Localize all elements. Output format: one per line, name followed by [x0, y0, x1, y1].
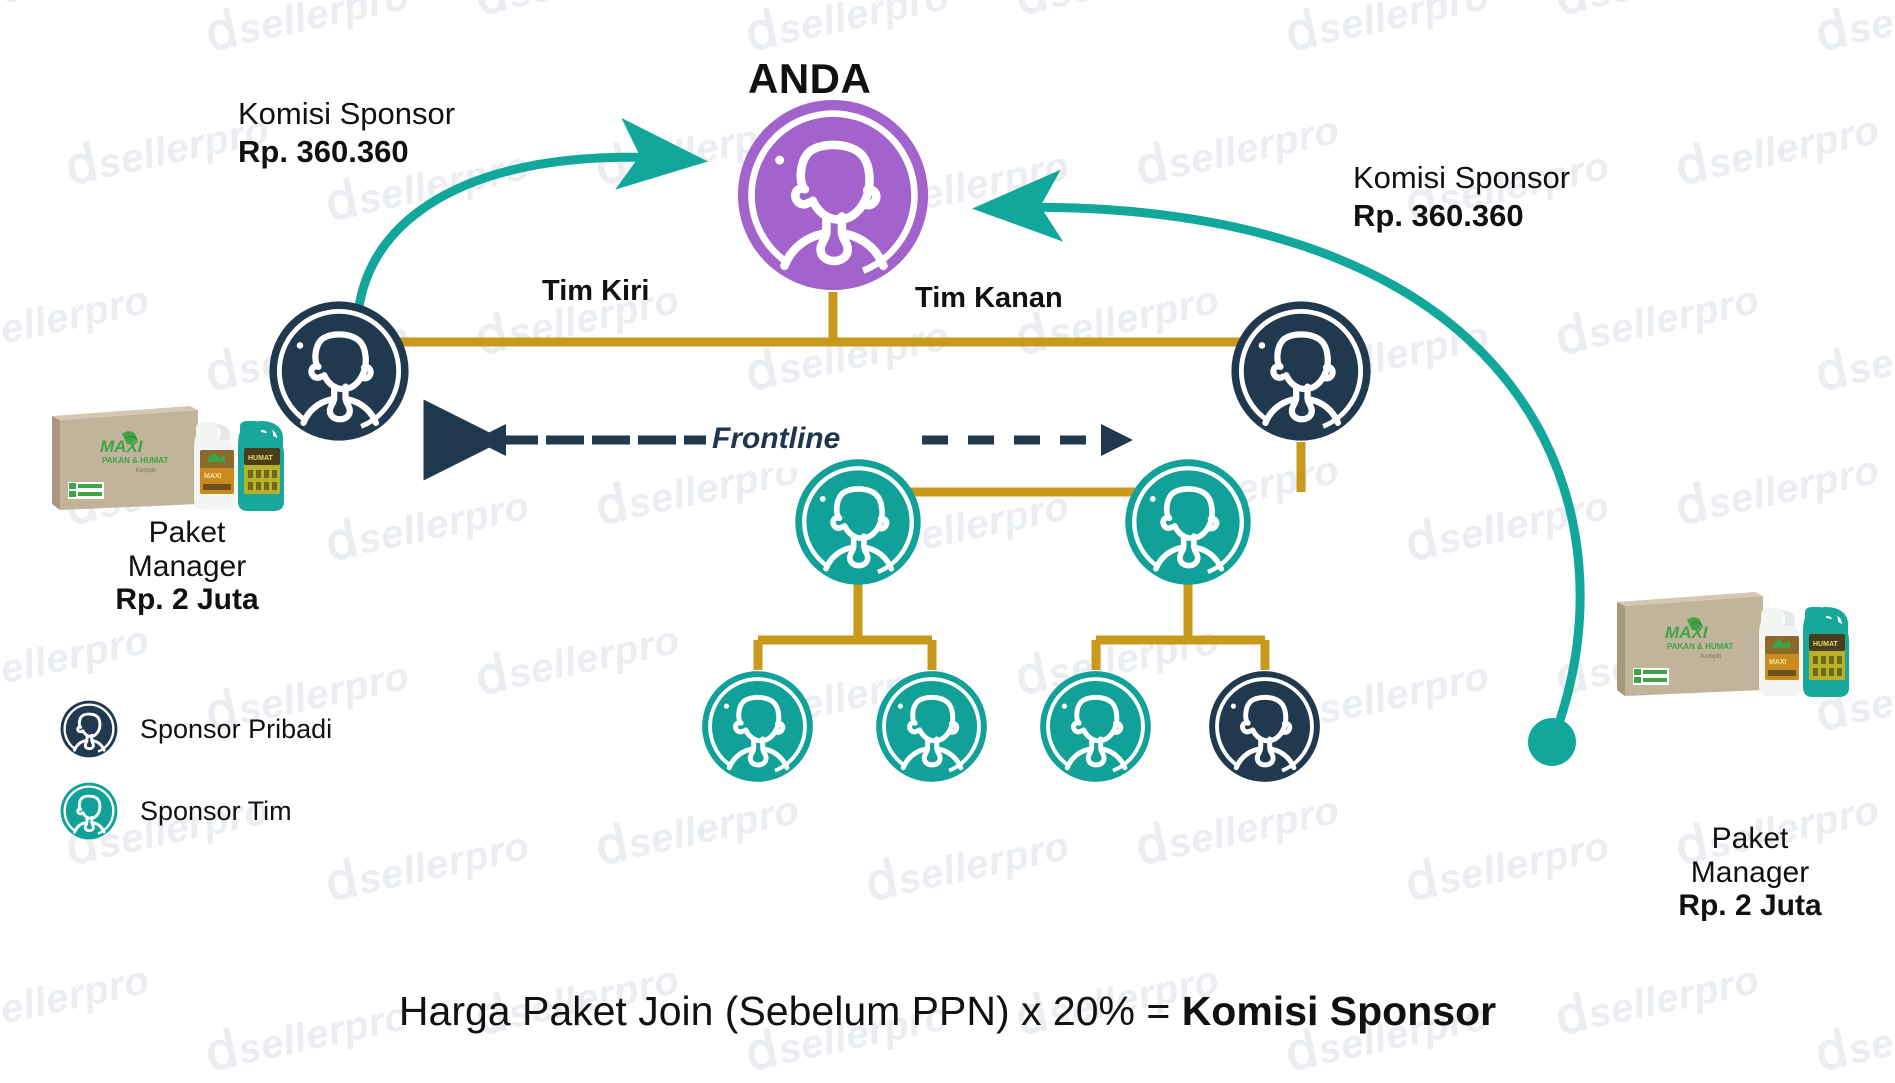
svg-text:HUMAT: HUMAT: [1813, 641, 1838, 648]
package-right-price: Rp. 2 Juta: [1678, 889, 1821, 922]
svg-text:Komplit: Komplit: [1701, 654, 1721, 660]
page-title: ANDA: [748, 55, 871, 103]
commission-right-title: Komisi Sponsor: [1353, 160, 1570, 196]
package-right-line2: Manager: [1625, 856, 1875, 890]
legend-item-sponsor-pribadi: Sponsor Pribadi: [60, 700, 332, 758]
diagram-canvas: ⅾsellerproⅾsellerproⅾsellerproⅾsellerpro…: [0, 0, 1895, 1080]
package-right: Paket Manager Rp. 2 Juta: [1625, 822, 1875, 923]
package-left-line1: Paket: [62, 516, 312, 550]
person-circle-icon: [1124, 458, 1252, 586]
package-left-price: Rp. 2 Juta: [115, 583, 258, 616]
person-circle-icon: [1230, 300, 1372, 442]
commission-left-amount: Rp. 360.360: [238, 134, 455, 170]
node-anda-root[interactable]: [736, 98, 930, 292]
commission-right-amount: Rp. 360.360: [1353, 198, 1570, 234]
svg-text:PAKAN & HUMAT: PAKAN & HUMAT: [1667, 642, 1733, 651]
svg-text:MAXI: MAXI: [204, 473, 222, 480]
legend-label-sponsor-tim: Sponsor Tim: [140, 796, 292, 827]
maxi-package-icon: MAXI PAKAN & HUMAT Komplit MAXI HUMAT: [48, 392, 298, 517]
node-team-r3a[interactable]: [701, 670, 814, 783]
caption-bold: Komisi Sponsor: [1182, 988, 1496, 1034]
commission-right: Komisi Sponsor Rp. 360.360: [1353, 160, 1570, 234]
person-circle-icon: [1039, 670, 1152, 783]
person-circle-icon: [875, 670, 988, 783]
label-frontline: Frontline: [712, 422, 840, 456]
person-circle-icon: [1208, 670, 1321, 783]
legend-item-sponsor-tim: Sponsor Tim: [60, 782, 332, 840]
legend: Sponsor Pribadi Sponsor Tim: [60, 700, 332, 840]
node-sponsor-r3d[interactable]: [1208, 670, 1321, 783]
package-right-line1: Paket: [1625, 822, 1875, 856]
package-left-line2: Manager: [62, 550, 312, 584]
product-image-right: MAXI PAKAN & HUMAT Komplit MAXI HUMAT: [1613, 578, 1863, 708]
svg-text:MAXI: MAXI: [1665, 623, 1709, 642]
label-tim-kiri: Tim Kiri: [542, 275, 649, 308]
node-team-r3b[interactable]: [875, 670, 988, 783]
node-team-r3c[interactable]: [1039, 670, 1152, 783]
person-circle-icon: [736, 98, 930, 292]
node-team-r2a[interactable]: [794, 458, 922, 586]
node-team-r2b[interactable]: [1124, 458, 1252, 586]
svg-text:MAXI: MAXI: [100, 437, 144, 456]
legend-label-sponsor-pribadi: Sponsor Pribadi: [140, 714, 332, 745]
person-circle-icon: [60, 700, 118, 758]
caption-normal: Harga Paket Join (Sebelum PPN) x 20% =: [399, 988, 1182, 1034]
node-right-frontline[interactable]: [1230, 300, 1372, 442]
caption: Harga Paket Join (Sebelum PPN) x 20% = K…: [0, 988, 1895, 1035]
product-image-left: MAXI PAKAN & HUMAT Komplit MAXI HUMAT: [48, 392, 298, 522]
svg-text:HUMAT: HUMAT: [248, 455, 273, 462]
svg-text:Komplit: Komplit: [136, 468, 156, 474]
label-tim-kanan: Tim Kanan: [915, 282, 1063, 315]
person-circle-icon: [701, 670, 814, 783]
person-circle-icon: [60, 782, 118, 840]
person-circle-icon: [794, 458, 922, 586]
commission-left-title: Komisi Sponsor: [238, 96, 455, 132]
commission-left: Komisi Sponsor Rp. 360.360: [238, 96, 455, 170]
package-left: Paket Manager Rp. 2 Juta: [62, 516, 312, 617]
svg-text:PAKAN & HUMAT: PAKAN & HUMAT: [102, 456, 168, 465]
svg-text:MAXI: MAXI: [1769, 659, 1787, 666]
maxi-package-icon: MAXI PAKAN & HUMAT Komplit MAXI HUMAT: [1613, 578, 1863, 703]
